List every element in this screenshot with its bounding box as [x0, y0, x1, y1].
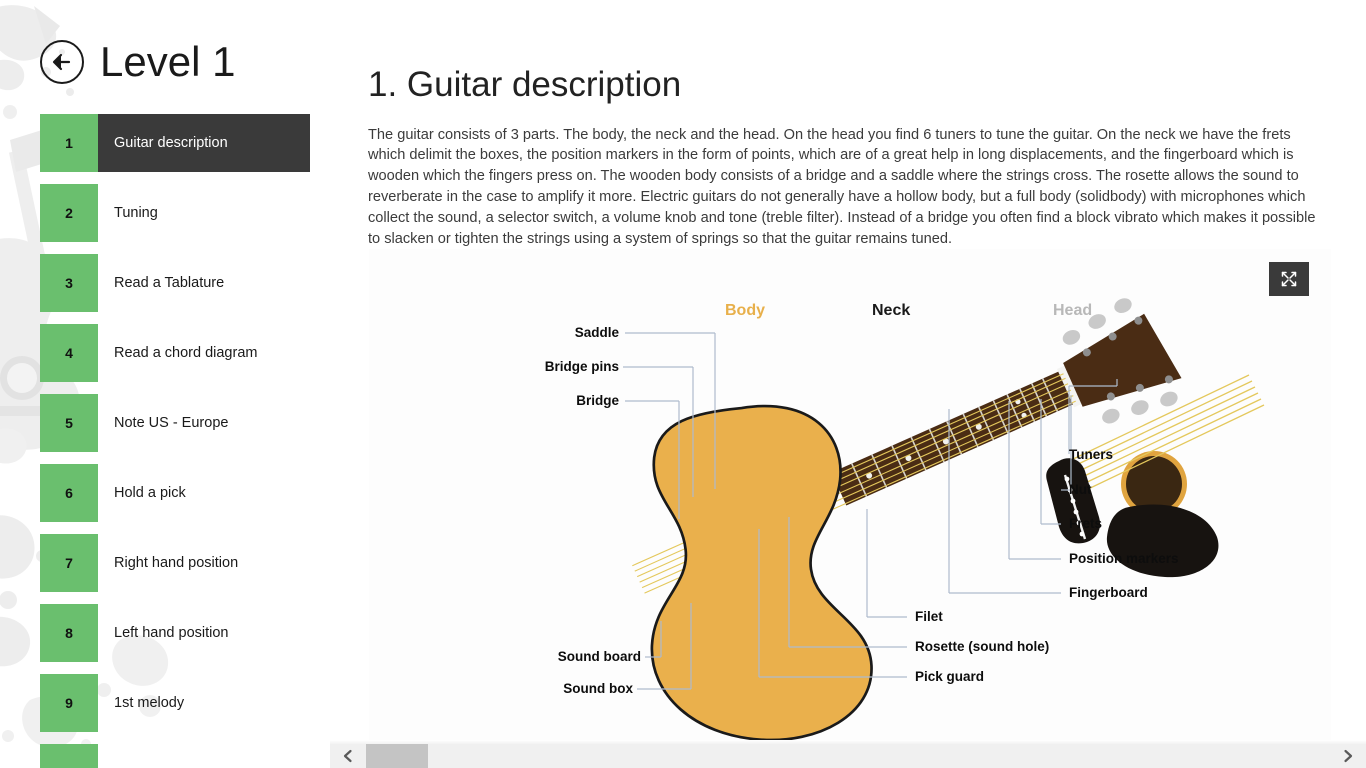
sidebar-item-number: 1	[40, 114, 98, 172]
sidebar-item-number: 5	[40, 394, 98, 452]
page-title: Level 1	[100, 41, 235, 83]
sidebar-item-number: 10	[40, 744, 98, 768]
figure-label-saddle: Saddle	[575, 325, 620, 340]
figure-label-pick-guard: Pick guard	[915, 669, 984, 684]
figure-section-neck: Neck	[872, 302, 910, 319]
figure-label-sound-box: Sound box	[563, 681, 633, 696]
app-root: Level 1 1Guitar description2Tuning3Read …	[0, 0, 1366, 768]
sidebar-item-label: Guitar description	[98, 114, 228, 172]
sidebar-item-number: 7	[40, 534, 98, 592]
sidebar-item-3[interactable]: 3Read a Tablature	[40, 254, 310, 312]
figure-label-tuners: Tuners	[1069, 447, 1113, 462]
content-pane: 1. Guitar description The guitar consist…	[340, 0, 1366, 768]
fullscreen-expand-icon[interactable]	[1269, 262, 1309, 296]
content-title: 1. Guitar description	[368, 65, 681, 105]
sidebar-item-9[interactable]: 91st melody	[40, 674, 310, 732]
figure-label-fingerboard: Fingerboard	[1069, 585, 1148, 600]
sidebar-item-8[interactable]: 8Left hand position	[40, 604, 310, 662]
figure-label-nut: Nut	[1069, 482, 1092, 497]
sidebar-item-label: Hold a pick	[98, 464, 186, 522]
sidebar-item-6[interactable]: 6Hold a pick	[40, 464, 310, 522]
figure-label-rosette: Rosette (sound hole)	[915, 639, 1049, 654]
sidebar-item-7[interactable]: 7Right hand position	[40, 534, 310, 592]
figure-section-head: Head	[1053, 302, 1092, 319]
figure-label-filet: Filet	[915, 609, 943, 624]
sidebar-item-number: 2	[40, 184, 98, 242]
sidebar-item-number: 6	[40, 464, 98, 522]
sidebar-item-1[interactable]: 1Guitar description	[40, 114, 310, 172]
sidebar-item-5[interactable]: 5Note US - Europe	[40, 394, 310, 452]
figure-label-sound-board: Sound board	[558, 649, 641, 664]
lesson-list[interactable]: 1Guitar description2Tuning3Read a Tablat…	[0, 114, 340, 768]
content-paragraph: The guitar consists of 3 parts. The body…	[368, 125, 1330, 250]
guitar-diagram-panel: Body Neck Head Saddle Bridge pins Bridge…	[369, 249, 1331, 740]
sidebar-item-label: 1st melody	[98, 674, 184, 732]
sidebar-item-label: Left hand position	[98, 604, 228, 662]
figure-section-body: Body	[725, 302, 765, 319]
horizontal-scrollbar[interactable]	[330, 744, 1366, 768]
sidebar-item-number: 3	[40, 254, 98, 312]
sidebar: Level 1 1Guitar description2Tuning3Read …	[0, 0, 340, 768]
sidebar-item-10[interactable]: 10	[40, 744, 310, 768]
figure-label-position-markers: Position markers	[1069, 551, 1179, 566]
sidebar-item-4[interactable]: 4Read a chord diagram	[40, 324, 310, 382]
horizontal-scroll-thumb[interactable]	[366, 744, 428, 768]
figure-label-bridge-pins: Bridge pins	[545, 359, 619, 374]
sidebar-item-label: Right hand position	[98, 534, 238, 592]
sidebar-item-number: 4	[40, 324, 98, 382]
figure-label-frets: Frets	[1069, 516, 1102, 531]
sidebar-item-label: Note US - Europe	[98, 394, 228, 452]
chevron-right-icon[interactable]	[1330, 744, 1366, 768]
sidebar-item-number: 8	[40, 604, 98, 662]
sidebar-item-2[interactable]: 2Tuning	[40, 184, 310, 242]
sidebar-item-label: Tuning	[98, 184, 158, 242]
sidebar-item-label: Read a chord diagram	[98, 324, 257, 382]
figure-label-bridge: Bridge	[576, 393, 619, 408]
chevron-left-icon[interactable]	[330, 744, 366, 768]
sidebar-item-label	[98, 744, 114, 768]
sidebar-header: Level 1	[40, 40, 235, 84]
scrollbar-track[interactable]	[366, 744, 1330, 768]
sidebar-item-label: Read a Tablature	[98, 254, 224, 312]
guitar-diagram-svg: Body Neck Head Saddle Bridge pins Bridge…	[369, 249, 1331, 740]
back-arrow-circle-icon[interactable]	[40, 40, 84, 84]
sidebar-item-number: 9	[40, 674, 98, 732]
